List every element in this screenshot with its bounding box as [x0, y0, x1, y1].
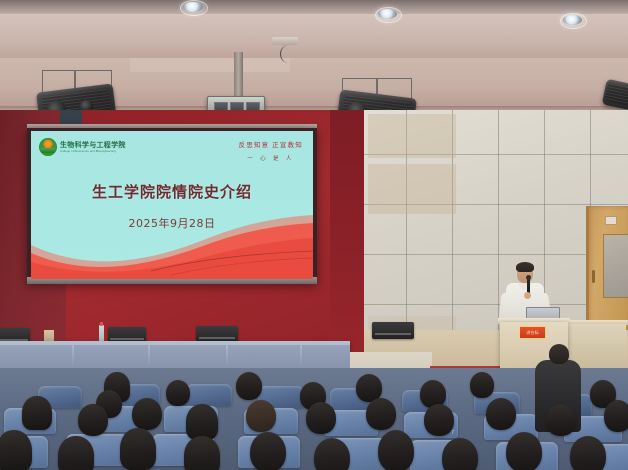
- audience-head: [546, 404, 576, 436]
- wall-tile-patch: [368, 164, 456, 214]
- paper-box-on-table: [44, 330, 54, 341]
- audience-head: [22, 396, 52, 430]
- audience-seat[interactable]: [186, 384, 232, 406]
- calligraphy-line-1: 反思知意 正宣教知: [239, 139, 303, 149]
- college-logo-icon: [39, 138, 57, 156]
- door-handle-icon[interactable]: [592, 270, 595, 283]
- calligraphy-line-2: 一 心 是 人: [239, 154, 303, 162]
- stage-chair[interactable]: [372, 322, 414, 339]
- audience-head: [250, 432, 286, 470]
- audience-head: [424, 404, 454, 436]
- slide-calligraphy: 反思知意 正宣教知 一 心 是 人: [239, 139, 303, 162]
- slide-date: 2025年9月28日: [31, 215, 313, 231]
- audience-head: [366, 398, 396, 430]
- projector-cable: [280, 45, 297, 63]
- ceiling-shadow-band: [0, 0, 628, 14]
- slide-title: 生工学院院情院史介绍: [31, 181, 313, 202]
- audience-head: [120, 428, 156, 470]
- audience-head: [236, 372, 262, 400]
- logo-text-block: 生物科学与工程学院 College of Bioscience and Bioe…: [60, 142, 126, 153]
- side-door[interactable]: [586, 206, 628, 330]
- audience-head: [58, 436, 94, 470]
- projector-mount-plate: [272, 37, 298, 45]
- podium-badge: 讲台标: [519, 326, 546, 339]
- auditorium-photo: 生物科学与工程学院 College of Bioscience and Bioe…: [0, 0, 628, 470]
- podium-badge-label: 讲台标: [526, 330, 539, 336]
- audience-head: [78, 404, 108, 436]
- audience-head: [486, 398, 516, 430]
- logo-name-cn: 生物科学与工程学院: [60, 142, 126, 149]
- wall-tile-patch: [368, 114, 456, 158]
- audience-head: [184, 436, 220, 470]
- audience-head: [186, 404, 218, 440]
- audience-head: [570, 436, 606, 470]
- door-sign: [605, 216, 617, 225]
- audience-head: [442, 438, 478, 470]
- logo-name-en: College of Bioscience and Bioengineering: [60, 150, 126, 153]
- audience-head: [306, 402, 336, 434]
- audience-head: [470, 372, 494, 398]
- ceiling-beam-step: [130, 58, 290, 72]
- audience-head: [506, 432, 542, 470]
- audience-head: [0, 430, 32, 470]
- slide-logo: 生物科学与工程学院 College of Bioscience and Bioe…: [39, 138, 126, 156]
- seat-number: 7: [451, 430, 454, 436]
- presenter-glasses-icon: [518, 271, 532, 275]
- standing-attendee-head: [549, 344, 569, 364]
- audience-head: [132, 398, 162, 430]
- water-bottle: [99, 325, 104, 342]
- audience-head: [246, 400, 276, 432]
- ceiling-band: [0, 40, 628, 60]
- downlight-ring-icon: [375, 7, 402, 23]
- audience-head: [378, 430, 414, 470]
- presenter-hand: [524, 292, 531, 299]
- downlight-ring-icon: [180, 0, 208, 16]
- projector-pole: [234, 52, 243, 98]
- audience-head: [166, 380, 190, 406]
- audience-head: [604, 400, 628, 432]
- speaker-grill: [604, 83, 628, 108]
- downlight-ring-icon: [560, 13, 587, 29]
- audience-head: [314, 438, 350, 470]
- presentation-slide: 生物科学与工程学院 College of Bioscience and Bioe…: [31, 131, 313, 279]
- door-window: [603, 234, 628, 298]
